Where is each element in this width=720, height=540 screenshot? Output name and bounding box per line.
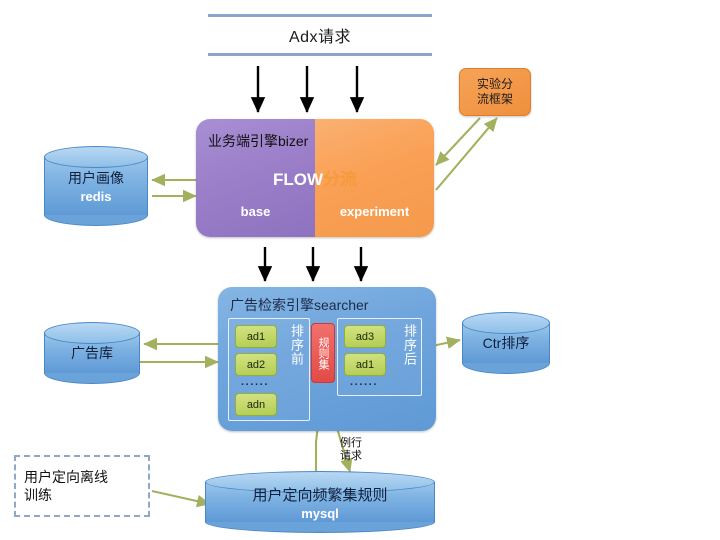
searcher-engine-box[interactable]: 广告检索引擎searcher ad1 ad2 ······ adn 排序前 规则… [218, 287, 436, 431]
offline-training-label: 用户定向离线 训练 [16, 468, 108, 504]
mysql-frequent-rules-store[interactable]: 用户定向频繁集规则 mysql [205, 471, 435, 533]
redis-user-profile-store[interactable]: 用户画像 redis [44, 146, 148, 226]
ctr-ranking-line1: Ctr排序 [483, 333, 530, 353]
post-sort-panel: ad3 ad1 ······ 排序后 [337, 318, 422, 396]
arrow-bizer-to-expframework [436, 118, 497, 190]
experiment-framework-line2: 流框架 [472, 92, 518, 107]
ad-chip-post-1[interactable]: ad3 [344, 325, 386, 348]
mysql-store-label: 用户定向频繁集规则 mysql [205, 471, 435, 533]
adx-request-title: Adx请求 [208, 14, 432, 56]
offline-training-line1: 用户定向离线 [24, 468, 108, 486]
bizer-experiment-label: experiment [315, 204, 434, 219]
experiment-framework-label: 实验分 流框架 [472, 77, 518, 107]
ad-chip-pre-1[interactable]: ad1 [235, 325, 277, 348]
ad-chip-pre-n[interactable]: adn [235, 393, 277, 416]
ad-library-store[interactable]: 广告库 [44, 322, 140, 384]
arrow-expframework-to-bizer [436, 118, 480, 165]
ctr-ranking-store[interactable]: Ctr排序 [462, 312, 550, 374]
experiment-framework-line1: 实验分 [472, 77, 518, 92]
offline-training-box[interactable]: 用户定向离线 训练 [14, 455, 150, 517]
routine-request-edge-label: 例行 请求 [340, 437, 362, 463]
post-sort-vertical-label: 排序后 [400, 324, 416, 366]
pre-sort-ellipsis: ······ [241, 379, 269, 391]
pre-sort-panel: ad1 ad2 ······ adn 排序前 [228, 318, 310, 421]
bizer-flow-label: FLOW分流 [196, 165, 434, 190]
arrow-adx-to-bizer [258, 66, 357, 112]
ad-library-label: 广告库 [44, 322, 140, 384]
redis-store-line2: redis [80, 189, 111, 204]
arrow-bizer-to-searcher [265, 247, 361, 281]
experiment-framework-box[interactable]: 实验分 流框架 [459, 68, 531, 116]
offline-training-line2: 训练 [24, 486, 108, 504]
bizer-engine-title: 业务端引擎bizer [208, 131, 308, 151]
post-sort-ellipsis: ······ [350, 379, 378, 391]
routine-request-line2: 请求 [340, 450, 362, 463]
redis-store-line1: 用户画像 [68, 168, 124, 188]
ad-chip-post-2[interactable]: ad1 [344, 353, 386, 376]
searcher-engine-title: 广告检索引擎searcher [230, 295, 368, 315]
ad-chip-pre-2[interactable]: ad2 [235, 353, 277, 376]
flow-split-word: 分流 [323, 170, 357, 189]
adx-request-label: Adx请求 [289, 23, 351, 47]
redis-store-label: 用户画像 redis [44, 146, 148, 226]
ad-library-line1: 广告库 [71, 343, 113, 363]
arrow-offlinetraining-to-mysql [152, 491, 210, 504]
routine-request-line1: 例行 [340, 437, 362, 450]
rule-set-box[interactable]: 规则集 [311, 323, 335, 383]
flow-word: FLOW [273, 170, 323, 189]
pre-sort-vertical-label: 排序前 [287, 324, 303, 366]
architecture-diagram: Adx请求 base experiment 业务端引擎bizer FLOW分流 … [0, 0, 720, 540]
bizer-base-label: base [196, 204, 315, 219]
mysql-store-line1: 用户定向频繁集规则 [252, 484, 387, 505]
ctr-ranking-label: Ctr排序 [462, 312, 550, 374]
mysql-store-line2: mysql [301, 506, 339, 521]
